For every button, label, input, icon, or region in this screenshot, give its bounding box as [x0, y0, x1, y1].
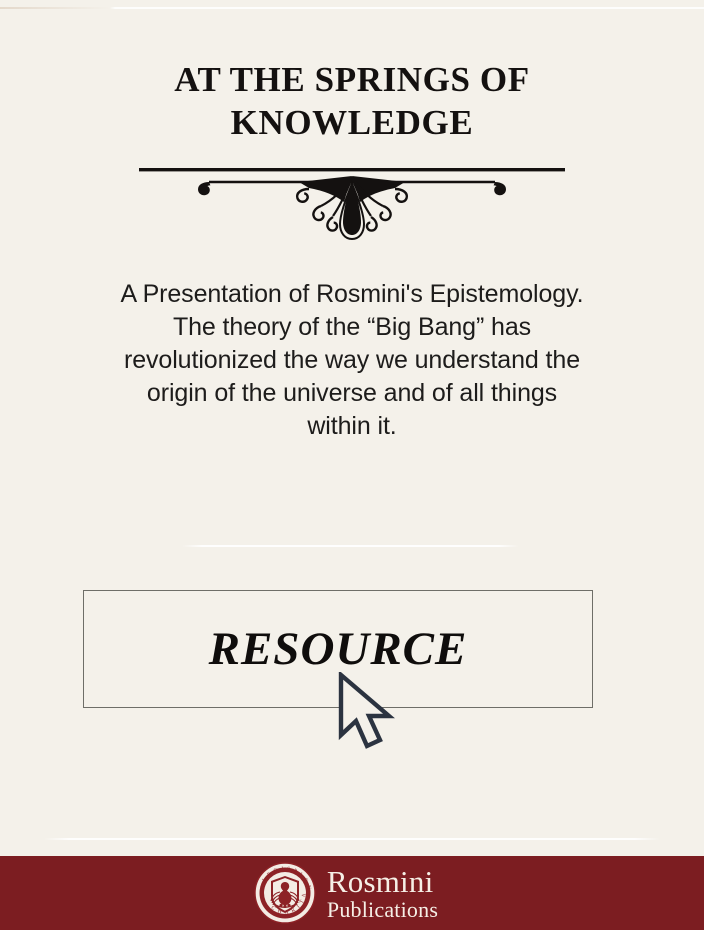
brand-subtitle: Publications	[327, 899, 438, 921]
footer-logo-group[interactable]: L E G I S P L E N I T U D O C H A R I T …	[254, 862, 438, 924]
resource-button-wrap: Resource	[83, 590, 593, 708]
brand-wordmark: Rosmini Publications	[327, 866, 438, 921]
resource-button-label: Resource	[209, 622, 468, 676]
page-title: At the Springs of Knowledge	[132, 58, 572, 144]
main-content: At the Springs of Knowledge	[0, 0, 704, 930]
resource-button[interactable]: Resource	[83, 590, 593, 708]
footer-divider	[44, 838, 660, 840]
section-divider	[182, 545, 519, 547]
page-root: At the Springs of Knowledge	[0, 0, 704, 930]
brand-name: Rosmini	[327, 866, 438, 897]
footer-bar: L E G I S P L E N I T U D O C H A R I T …	[0, 856, 704, 930]
rosmini-seal-icon: L E G I S P L E N I T U D O C H A R I T …	[254, 862, 316, 924]
flourish-divider-icon	[137, 162, 567, 242]
description-text: A Presentation of Rosmini's Epistemology…	[117, 278, 587, 443]
